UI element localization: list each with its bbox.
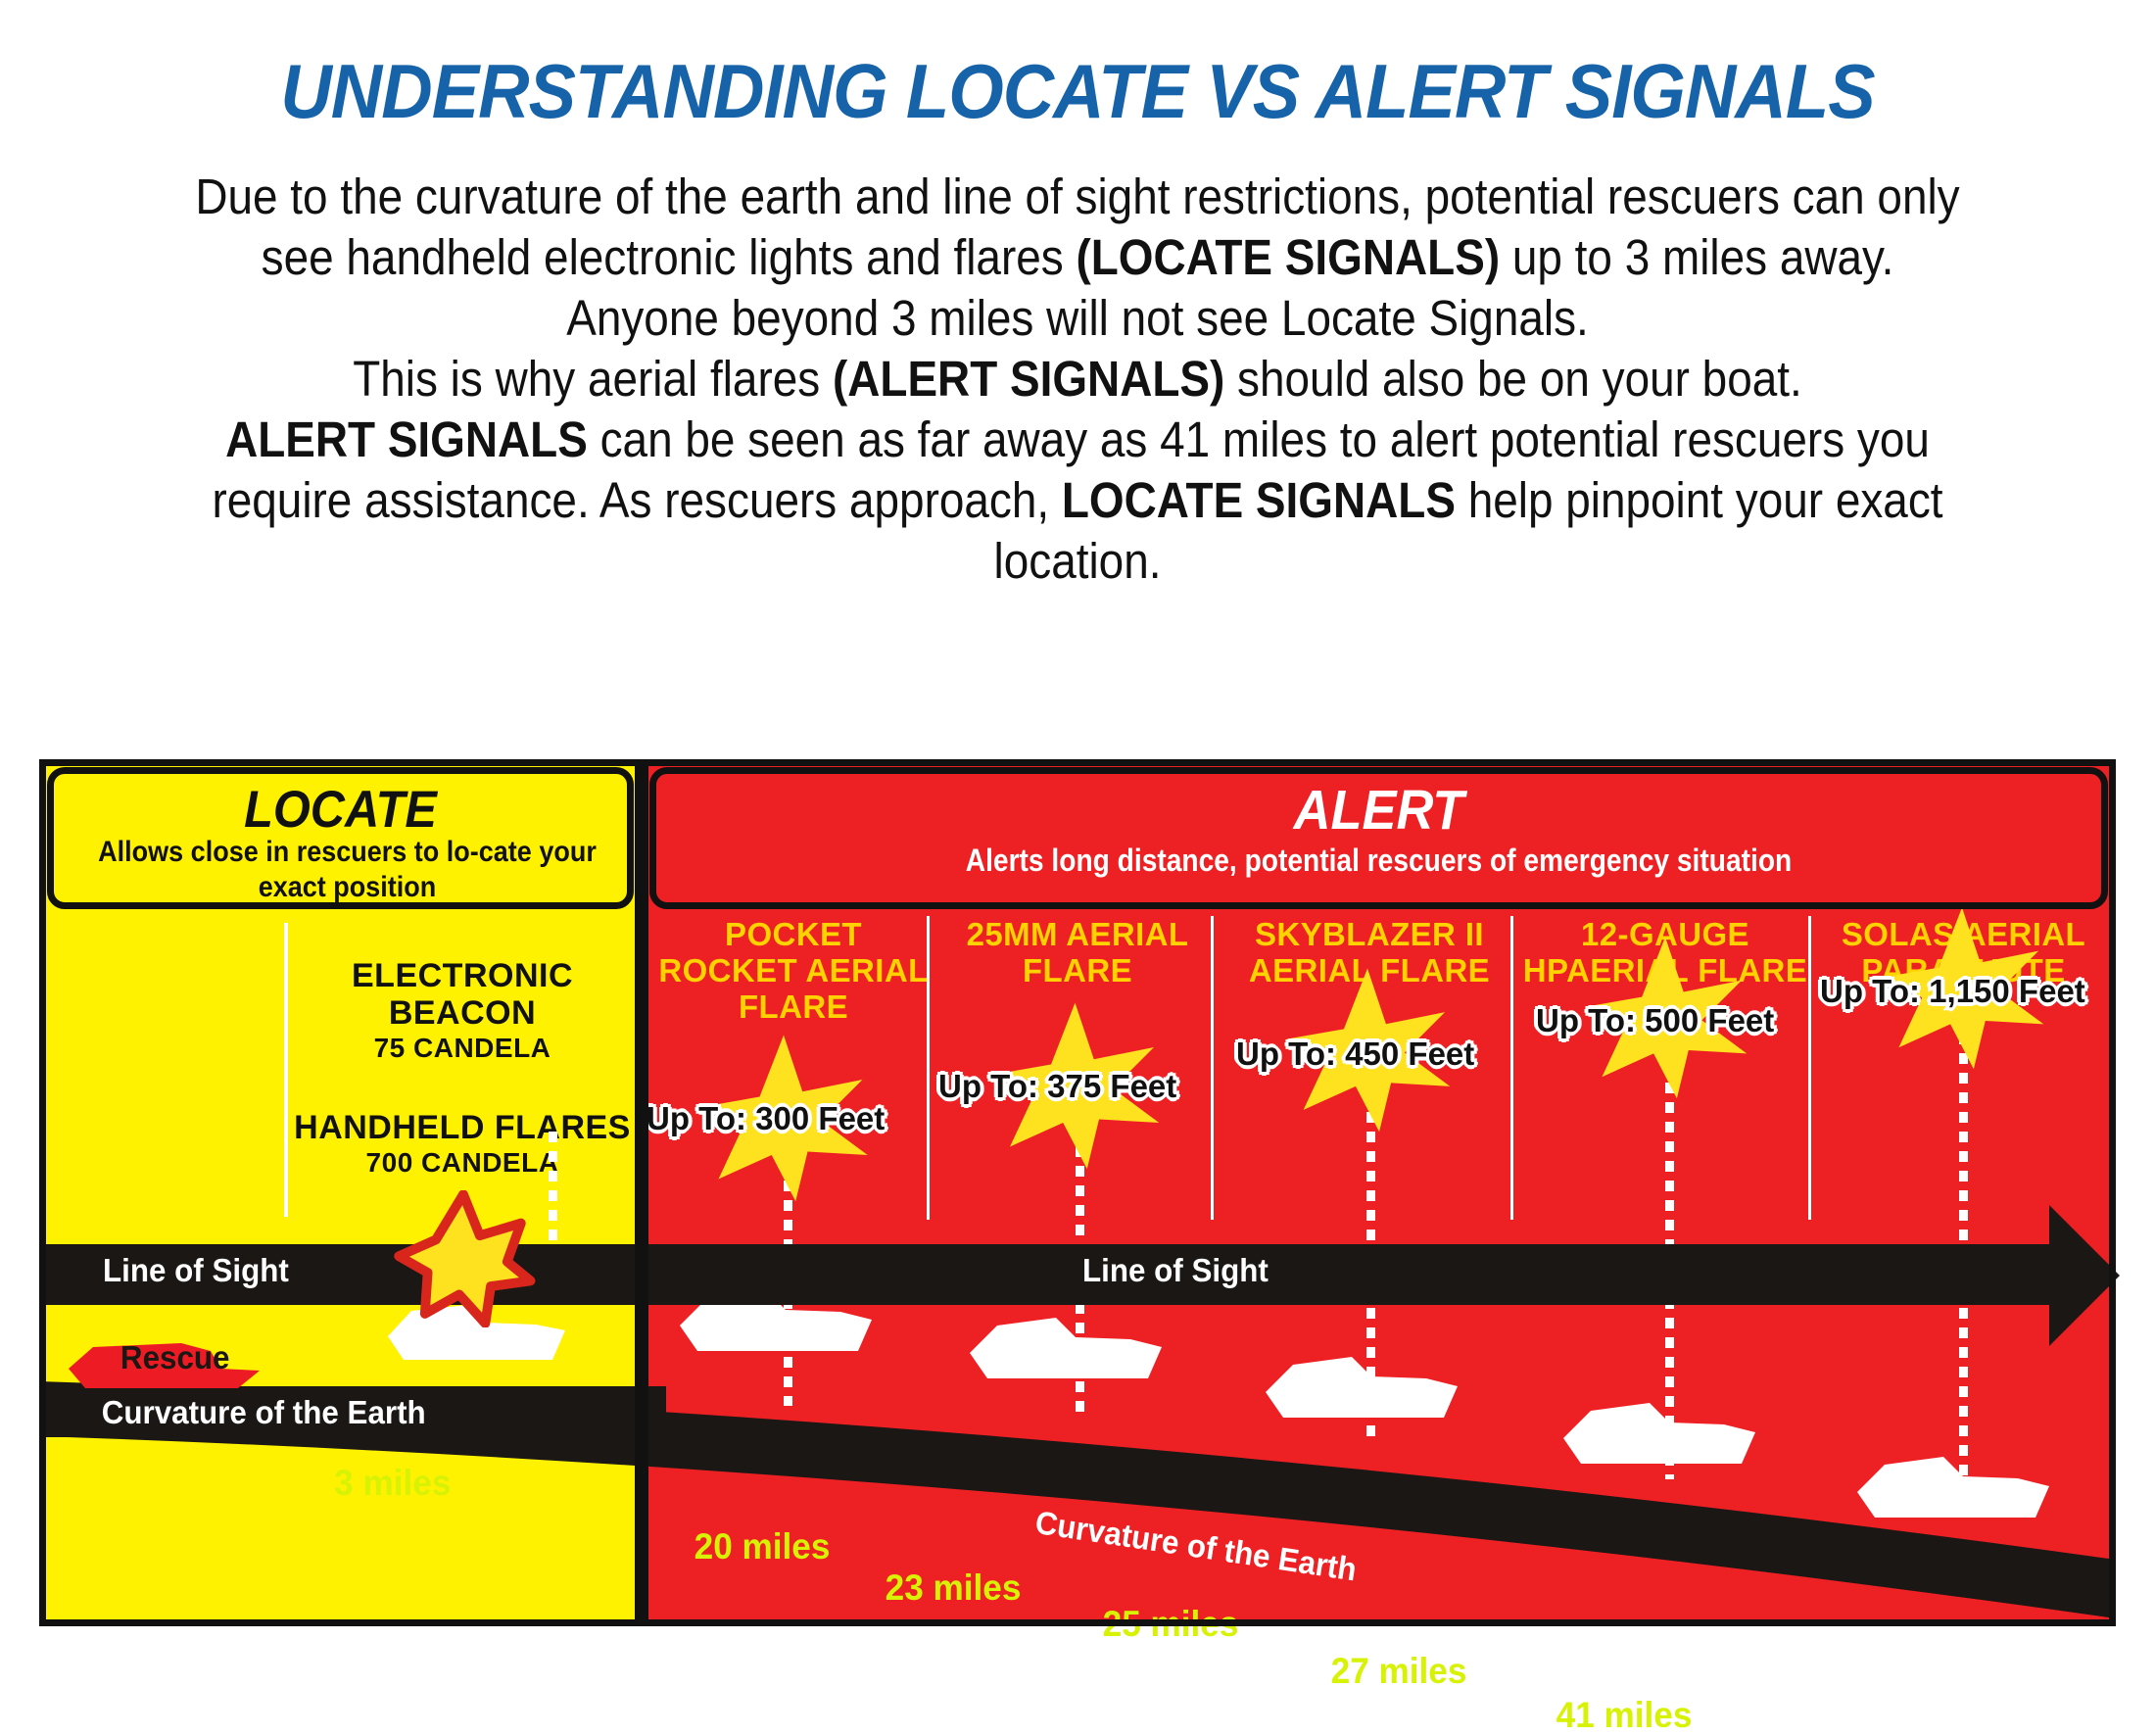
page-title: UNDERSTANDING LOCATE VS ALERT SIGNALS (75, 47, 2080, 136)
alert-boat-icon-4 (1559, 1391, 1770, 1468)
intro-line3a: This is why aerial flares (353, 351, 833, 407)
altitude-label-4: Up To: 500 Feet (1536, 1002, 1774, 1039)
line-of-sight-band (39, 1244, 2057, 1305)
alert-column-label: 25MM AERIAL FLARE (935, 916, 1220, 989)
alert-column-pocket-rocket: POCKET ROCKET AERIAL FLARE (651, 916, 935, 1025)
intro-line2: Anyone beyond 3 miles will not see Locat… (566, 290, 1589, 346)
line-of-sight-label-locate: Line of Sight (103, 1252, 289, 1289)
signal-range-diagram: ELECTRONIC BEACON 75 CANDELA HANDHELD FL… (39, 759, 2116, 1626)
altitude-label-1: Up To: 300 Feet (646, 1100, 885, 1137)
locate-product-candela: 75 CANDELA (291, 1032, 634, 1064)
alert-header-wrap: ALERT Alerts long distance, potential re… (642, 759, 2116, 917)
intro-line1c: up to 3 miles away. (1500, 229, 1893, 285)
distance-label-5: 41 miles (1556, 1695, 1693, 1736)
alert-boat-icon-5 (1853, 1445, 2064, 1521)
intro-paragraph: Due to the curvature of the earth and li… (161, 167, 1994, 592)
alert-header-box: ALERT Alerts long distance, potential re… (649, 767, 2108, 909)
line-of-sight-label-alert: Line of Sight (1082, 1252, 1269, 1289)
alert-heading: ALERT (714, 778, 2043, 843)
locate-product-handheld-flares: HANDHELD FLARES 700 CANDELA (291, 1109, 634, 1179)
distance-label-2: 23 miles (886, 1567, 1022, 1609)
curvature-of-earth-label-locate: Curvature of the Earth (102, 1394, 426, 1431)
intro-locate-signals-bold-2: LOCATE SIGNALS (1062, 472, 1456, 528)
locate-column-divider (284, 923, 288, 1217)
locate-product-electronic-beacon: ELECTRONIC BEACON 75 CANDELA (291, 957, 634, 1064)
locate-product-name: HANDHELD FLARES (291, 1109, 634, 1146)
locate-subheading: Allows close in rescuers to lo-cate your… (92, 835, 602, 905)
intro-line3c: should also be on your boat. (1224, 351, 1801, 407)
locate-header-box: LOCATE Allows close in rescuers to lo-ca… (47, 767, 634, 909)
intro-alert-signals-bold: (ALERT SIGNALS) (833, 351, 1224, 407)
locate-product-name: ELECTRONIC BEACON (291, 957, 634, 1032)
distance-label-4: 27 miles (1331, 1651, 1467, 1692)
locate-heading: LOCATE (76, 780, 603, 840)
intro-alert-signals-bold-2: ALERT SIGNALS (225, 411, 588, 467)
alert-subheading: Alerts long distance, potential rescuers… (743, 843, 2015, 879)
distance-label-1: 20 miles (694, 1526, 831, 1567)
line-of-sight-arrow-icon (2049, 1205, 2120, 1346)
locate-flare-star-icon (370, 1190, 556, 1327)
altitude-label-3: Up To: 450 Feet (1236, 1036, 1474, 1073)
altitude-label-2: Up To: 375 Feet (938, 1068, 1176, 1105)
alert-boat-icon-2 (966, 1306, 1176, 1382)
distance-label-3: 25 miles (1103, 1604, 1239, 1645)
locate-product-candela: 700 CANDELA (291, 1146, 634, 1179)
rescue-label: Rescue (120, 1339, 230, 1376)
intro-locate-signals-bold: (LOCATE SIGNALS) (1076, 229, 1500, 285)
alert-boat-icon-3 (1262, 1345, 1472, 1422)
alert-column-25mm: 25MM AERIAL FLARE (935, 916, 1220, 989)
altitude-label-5: Up To: 1,150 Feet (1820, 973, 2085, 1010)
distance-label-locate: 3 miles (334, 1463, 451, 1504)
alert-column-label: POCKET ROCKET AERIAL FLARE (651, 916, 935, 1025)
